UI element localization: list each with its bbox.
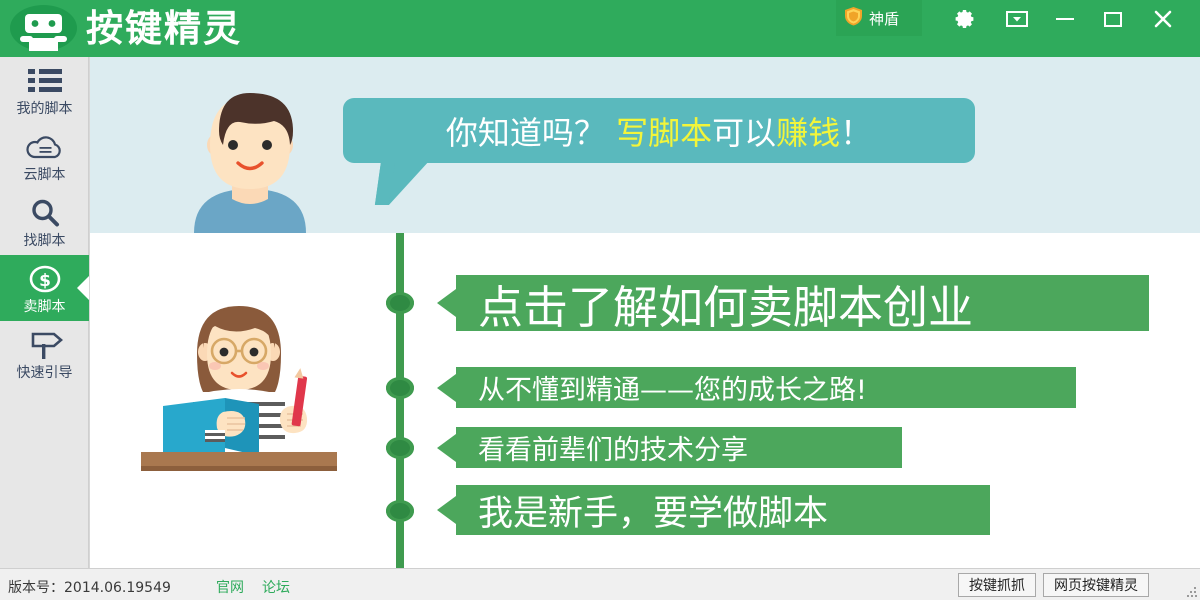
- content-area: 你知道吗？ 写脚本可以赚钱！: [89, 57, 1200, 568]
- signpost-icon: [26, 328, 64, 362]
- banner-label: 点击了解如何卖脚本创业: [478, 271, 973, 336]
- boy-avatar-illustration: [164, 83, 336, 233]
- timeline-node[interactable]: [386, 437, 414, 459]
- hero-banner: 你知道吗？ 写脚本可以赚钱！: [90, 57, 1200, 233]
- banner-tech-sharing[interactable]: 看看前辈们的技术分享: [456, 427, 902, 468]
- dollar-icon: $: [29, 262, 61, 296]
- sidebar-item-my-scripts[interactable]: 我的脚本: [0, 57, 89, 123]
- bubble-text-highlight2: 赚钱: [776, 114, 840, 152]
- official-site-link[interactable]: 官网: [216, 577, 244, 597]
- gear-icon: [954, 8, 976, 30]
- sidebar-item-label: 我的脚本: [17, 101, 73, 117]
- svg-text:$: $: [39, 271, 51, 291]
- bubble-text-highlight1: 写脚本: [616, 114, 712, 152]
- maximize-button[interactable]: [1096, 4, 1130, 34]
- version-value: 2014.06.19549: [64, 580, 171, 596]
- tray-icon: [1006, 11, 1028, 27]
- key-grabber-button[interactable]: 按键抓抓: [958, 573, 1036, 597]
- minimize-button[interactable]: [1048, 4, 1082, 34]
- status-bar: 版本号：2014.06.19549 官网 论坛 按键抓抓 网页按键精灵: [0, 568, 1200, 600]
- web-keyboard-wizard-button[interactable]: 网页按键精灵: [1043, 573, 1149, 597]
- resize-grip[interactable]: [1187, 587, 1197, 597]
- sidebar: 我的脚本 云脚本 找脚本: [0, 57, 89, 568]
- timeline-node[interactable]: [386, 500, 414, 522]
- banner-label: 我是新手，要学做脚本: [478, 485, 828, 536]
- title-bar: 按键精灵 神盾: [0, 0, 1200, 57]
- close-icon: [1152, 8, 1174, 30]
- sidebar-item-quick-guide[interactable]: 快速引导: [0, 321, 89, 387]
- sidebar-item-sell-scripts[interactable]: $ 卖脚本: [0, 255, 89, 321]
- bubble-text-part3: ！: [840, 114, 872, 152]
- sidebar-item-label: 快速引导: [17, 365, 73, 381]
- speech-bubble-text: 你知道吗？ 写脚本可以赚钱！: [446, 108, 872, 154]
- maximize-icon: [1103, 10, 1123, 28]
- banner-sell-script-business[interactable]: 点击了解如何卖脚本创业: [456, 275, 1149, 331]
- version-text: 版本号：2014.06.19549: [8, 577, 171, 597]
- speech-bubble-tail: [375, 161, 429, 205]
- search-icon: [30, 196, 60, 230]
- bubble-text-part1: 你知道吗？: [446, 114, 616, 152]
- banner-label: 从不懂到精通——您的成长之路!: [478, 368, 867, 407]
- girl-reading-illustration: [135, 300, 343, 487]
- robot-logo-icon: [10, 5, 77, 51]
- list-icon: [28, 64, 62, 98]
- sidebar-item-label: 云脚本: [24, 167, 66, 183]
- cloud-icon: [25, 130, 65, 164]
- close-button[interactable]: [1146, 4, 1180, 34]
- application-window: 按键精灵 神盾: [0, 0, 1200, 600]
- forum-link[interactable]: 论坛: [262, 577, 290, 597]
- shield-icon: [844, 6, 863, 31]
- sidebar-item-cloud-scripts[interactable]: 云脚本: [0, 123, 89, 189]
- banner-label: 看看前辈们的技术分享: [478, 428, 748, 467]
- speech-bubble: 你知道吗？ 写脚本可以赚钱！: [343, 98, 975, 163]
- banner-beginner-learn[interactable]: 我是新手，要学做脚本: [456, 485, 990, 535]
- shield-label: 神盾: [869, 8, 899, 29]
- timeline-node[interactable]: [386, 377, 414, 399]
- settings-button[interactable]: [948, 4, 982, 34]
- bubble-text-part2: 可以: [712, 114, 776, 152]
- shield-badge[interactable]: 神盾: [836, 0, 922, 36]
- sidebar-item-find-scripts[interactable]: 找脚本: [0, 189, 89, 255]
- sidebar-item-label: 找脚本: [24, 233, 66, 249]
- minimize-icon: [1054, 13, 1076, 25]
- app-title: 按键精灵: [86, 6, 242, 52]
- version-label: 版本号：: [8, 580, 64, 596]
- minimize-to-tray-button[interactable]: [1000, 4, 1034, 34]
- timeline-node[interactable]: [386, 292, 414, 314]
- sidebar-item-label: 卖脚本: [24, 299, 66, 315]
- banner-growth-path[interactable]: 从不懂到精通——您的成长之路!: [456, 367, 1076, 408]
